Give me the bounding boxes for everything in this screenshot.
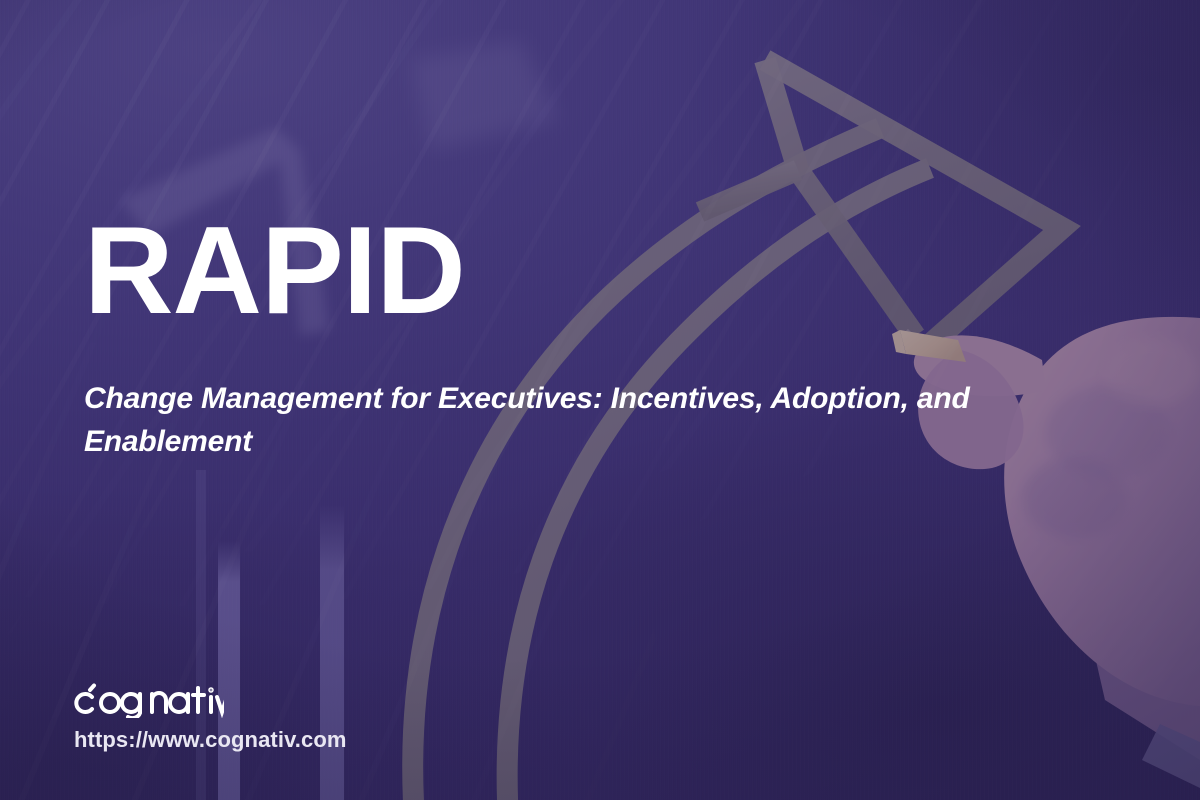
brand-url[interactable]: https://www.cognativ.com [74, 728, 347, 752]
page-title: RAPID [84, 209, 465, 333]
share-card: RAPID Change Management for Executives: … [0, 0, 1200, 800]
logo-lockup[interactable] [72, 676, 347, 720]
brand-block: https://www.cognativ.com [72, 676, 347, 752]
page-subtitle: Change Management for Executives: Incent… [84, 378, 1104, 463]
cognativ-logo-icon [72, 678, 224, 718]
